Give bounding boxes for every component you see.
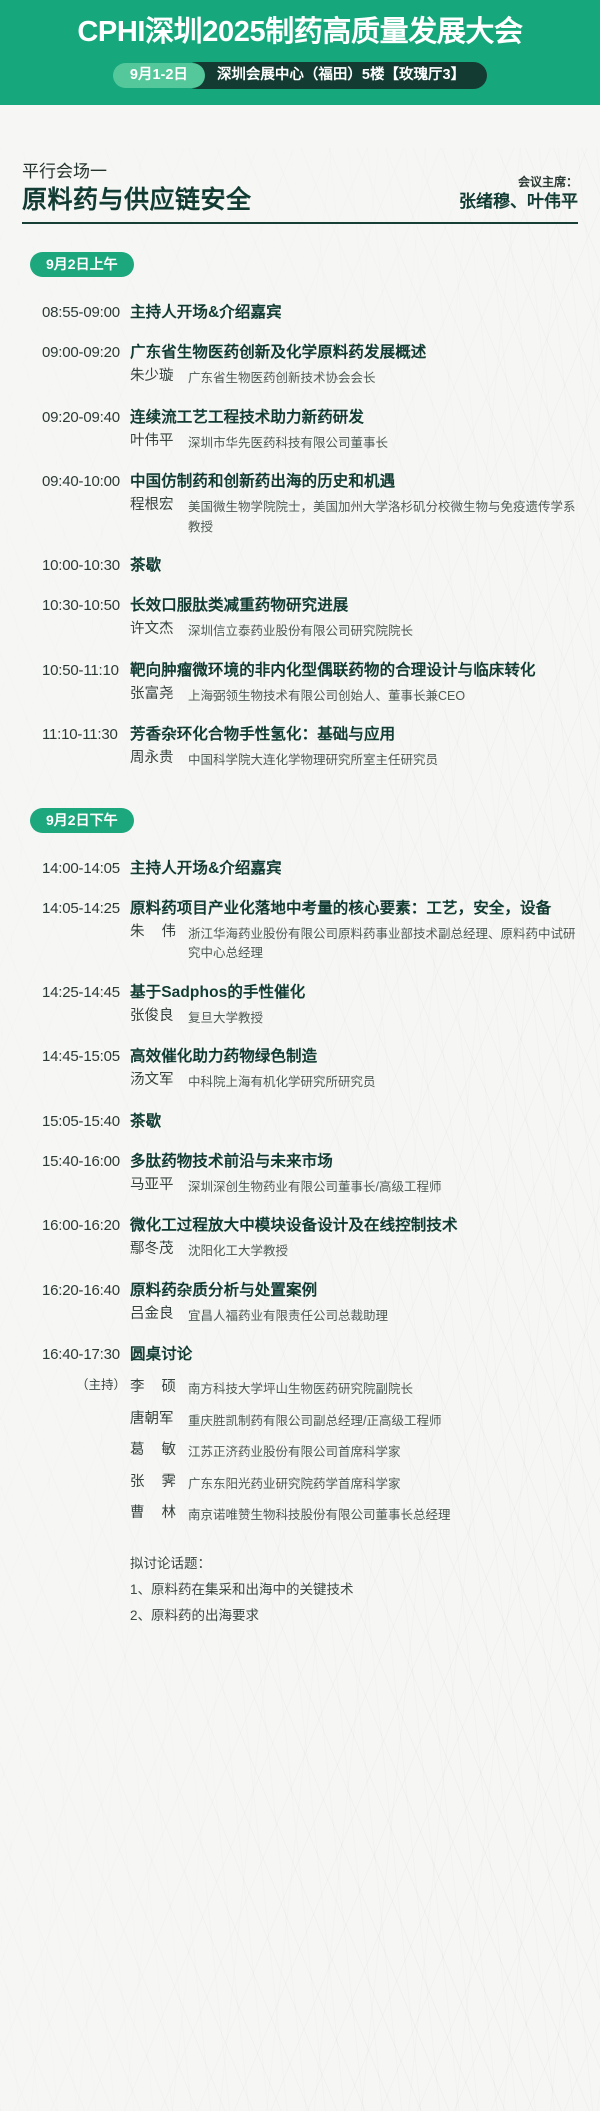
agenda-title: 茶歇 [130,1111,578,1133]
agenda-time: 09:40-10:00 [22,471,130,493]
speaker-affiliation: 上海弼领生物技术有限公司创始人、董事长兼CEO [188,684,578,707]
agenda-title: 基于Sadphos的手性催化 [130,982,578,1004]
speaker: 吕金良 宜昌人福药业有限责任公司总裁助理 [130,1304,578,1327]
agenda-title: 多肽药物技术前沿与未来市场 [130,1151,578,1173]
speaker: 张俊良 复旦大学教授 [130,1006,578,1029]
panelist-name: 葛敏 [130,1440,188,1462]
panelist-affiliation: 南京诺唯赞生物科技股份有限公司董事长总经理 [188,1503,578,1526]
speaker: 许文杰 深圳信立泰药业股份有限公司研究院院长 [130,619,578,642]
agenda-row: 08:55-09:00 主持人开场&介绍嘉宾 [22,293,578,324]
agenda-row: 14:00-14:05 主持人开场&介绍嘉宾 [22,849,578,880]
agenda-body: 微化工过程放大中模块设备设计及在线控制技术 鄢冬茂 沈阳化工大学教授 [130,1215,578,1262]
agenda-row: 09:40-10:00 中国仿制药和创新药出海的历史和机遇 程根宏 美国微生物学… [22,462,578,537]
agenda-time: 08:55-09:00 [22,302,130,324]
speaker: 汤文军 中科院上海有机化学研究所研究员 [130,1070,578,1093]
panelist-name: 李硕 [130,1377,188,1399]
speaker-affiliation: 沈阳化工大学教授 [188,1239,578,1262]
agenda-title: 高效催化助力药物绿色制造 [130,1046,578,1068]
speaker-name: 张富尧 [130,684,188,706]
agenda-time: 16:00-16:20 [22,1215,130,1237]
agenda-row: 09:20-09:40 连续流工艺工程技术助力新药研发 叶伟平 深圳市华先医药科… [22,398,578,454]
event-date-badge: 9月1-2日 [113,63,205,89]
banner-subrow: 9月1-2日 深圳会展中心（福田）5楼【玫瑰厅3】 [0,62,600,90]
agenda-list-afternoon: 14:00-14:05 主持人开场&介绍嘉宾 14:05-14:25 原料药项目… [22,849,578,1629]
agenda-body: 中国仿制药和创新药出海的历史和机遇 程根宏 美国微生物学院院士，美国加州大学洛杉… [130,471,578,537]
speaker: 张富尧 上海弼领生物技术有限公司创始人、董事长兼CEO [130,684,578,707]
agenda-title: 靶向肿瘤微环境的非内化型偶联药物的合理设计与临床转化 [130,660,578,682]
chair-label: 会议主席： [459,173,578,191]
speaker-affiliation: 深圳信立泰药业股份有限公司研究院院长 [188,619,578,642]
event-venue-badge: 深圳会展中心（福田）5楼【玫瑰厅3】 [183,62,487,90]
agenda-time: 14:05-14:25 [22,898,130,920]
speaker-affiliation: 美国微生物学院院士，美国加州大学洛杉矶分校微生物与免疫遗传学系教授 [188,495,578,537]
panelist-row: 张霁 广东东阳光药业研究院药学首席科学家 [22,1470,578,1495]
agenda-list-morning: 08:55-09:00 主持人开场&介绍嘉宾 09:00-09:20 广东省生物… [22,293,578,771]
session-header: 平行会场一 原料药与供应链安全 会议主席： 张绪穆、叶伟平 [22,105,578,215]
agenda-body: 茶歇 [130,555,578,577]
agenda-title: 茶歇 [130,555,578,577]
panelist: 李硕 南方科技大学坪山生物医药研究院副院长 [130,1377,578,1400]
agenda-body: 广东省生物医药创新及化学原料药发展概述 朱少璇 广东省生物医药创新技术协会会长 [130,342,578,389]
panelist-name: 唐朝军 [130,1409,188,1431]
agenda-time: 14:25-14:45 [22,982,130,1004]
agenda-time: 14:45-15:05 [22,1046,130,1068]
panelist-row: 葛敏 江苏正济药业股份有限公司首席科学家 [22,1438,578,1463]
agenda-time: 15:05-15:40 [22,1111,130,1133]
agenda-row: 10:50-11:10 靶向肿瘤微环境的非内化型偶联药物的合理设计与临床转化 张… [22,651,578,707]
agenda-time: 09:20-09:40 [22,407,130,429]
agenda-time: 09:00-09:20 [22,342,130,364]
panelist-name: 张霁 [130,1472,188,1494]
panelist-affiliation: 江苏正济药业股份有限公司首席科学家 [188,1440,578,1463]
panelist-row: 曹林 南京诺唯赞生物科技股份有限公司董事长总经理 [22,1501,578,1526]
session-title: 原料药与供应链安全 [22,185,252,215]
agenda-body: 芳香杂环化合物手性氢化：基础与应用 周永贵 中国科学院大连化学物理研究所室主任研… [130,724,578,771]
agenda-body: 长效口服肽类减重药物研究进展 许文杰 深圳信立泰药业股份有限公司研究院院长 [130,595,578,642]
agenda-row: 15:40-16:00 多肽药物技术前沿与未来市场 马亚平 深圳深创生物药业有限… [22,1142,578,1198]
agenda-row: 14:45-15:05 高效催化助力药物绿色制造 汤文军 中科院上海有机化学研究… [22,1037,578,1093]
agenda-time: 11:10-11:30 [22,724,130,746]
agenda-title: 原料药杂质分析与处置案例 [130,1280,578,1302]
agenda-body: 基于Sadphos的手性催化 张俊良 复旦大学教授 [130,982,578,1029]
speaker-affiliation: 宜昌人福药业有限责任公司总裁助理 [188,1304,578,1327]
panelist: 唐朝军 重庆胜凯制药有限公司副总经理/正高级工程师 [130,1409,578,1432]
agenda-body: 原料药杂质分析与处置案例 吕金良 宜昌人福药业有限责任公司总裁助理 [130,1280,578,1327]
speaker-affiliation: 中国科学院大连化学物理研究所室主任研究员 [188,748,578,771]
panelist: 葛敏 江苏正济药业股份有限公司首席科学家 [130,1440,578,1463]
speaker-affiliation: 中科院上海有机化学研究所研究员 [188,1070,578,1093]
agenda-page: CPHI深圳2025制药高质量发展大会 9月1-2日 深圳会展中心（福田）5楼【… [0,0,600,2111]
speaker-name: 朱伟 [130,922,188,944]
agenda-title: 主持人开场&介绍嘉宾 [130,858,578,880]
agenda-body: 茶歇 [130,1111,578,1133]
session-kicker: 平行会场一 [22,161,252,184]
panelist-row: （主持） 李硕 南方科技大学坪山生物医药研究院副院长 [22,1375,578,1400]
agenda-body: 原料药项目产业化落地中考量的核心要素：工艺，安全，设备 朱伟 浙江华海药业股份有… [130,898,578,964]
speaker: 马亚平 深圳深创生物药业有限公司董事长/高级工程师 [130,1175,578,1198]
speaker-name: 周永贵 [130,748,188,770]
agenda-row: 15:05-15:40 茶歇 [22,1102,578,1133]
panelist: 曹林 南京诺唯赞生物科技股份有限公司董事长总经理 [130,1503,578,1526]
page-content: 平行会场一 原料药与供应链安全 会议主席： 张绪穆、叶伟平 9月2日上午 08:… [0,105,600,1628]
speaker-affiliation: 深圳深创生物药业有限公司董事长/高级工程师 [188,1175,578,1198]
agenda-time: 16:20-16:40 [22,1280,130,1302]
topic-item: 1、原料药在集采和出海中的关键技术 [130,1577,578,1603]
speaker-name: 吕金良 [130,1304,188,1326]
agenda-title: 广东省生物医药创新及化学原料药发展概述 [130,342,578,364]
panelist-affiliation: 广东东阳光药业研究院药学首席科学家 [188,1472,578,1495]
agenda-row: 10:00-10:30 茶歇 [22,546,578,577]
speaker-name: 张俊良 [130,1006,188,1028]
speaker-affiliation: 深圳市华先医药科技有限公司董事长 [188,431,578,454]
agenda-time: 10:30-10:50 [22,595,130,617]
speaker: 朱少璇 广东省生物医药创新技术协会会长 [130,366,578,389]
topics-block-row: 拟讨论话题： 1、原料药在集采和出海中的关键技术 2、原料药的出海要求 [22,1533,578,1629]
agenda-time: 10:00-10:30 [22,555,130,577]
speaker: 朱伟 浙江华海药业股份有限公司原料药事业部技术副总经理、原料药中试研究中心总经理 [130,922,578,964]
speaker-affiliation: 广东省生物医药创新技术协会会长 [188,366,578,389]
agenda-time: 15:40-16:00 [22,1151,130,1173]
speaker-name: 叶伟平 [130,431,188,453]
agenda-body: 主持人开场&介绍嘉宾 [130,858,578,880]
agenda-title: 微化工过程放大中模块设备设计及在线控制技术 [130,1215,578,1237]
agenda-title: 芳香杂环化合物手性氢化：基础与应用 [130,724,578,746]
speaker-name: 鄢冬茂 [130,1239,188,1261]
speaker: 叶伟平 深圳市华先医药科技有限公司董事长 [130,431,578,454]
agenda-row: 16:20-16:40 原料药杂质分析与处置案例 吕金良 宜昌人福药业有限责任公… [22,1271,578,1327]
panelist-affiliation: 南方科技大学坪山生物医药研究院副院长 [188,1377,578,1400]
event-title: CPHI深圳2025制药高质量发展大会 [0,17,600,49]
agenda-row: 10:30-10:50 长效口服肽类减重药物研究进展 许文杰 深圳信立泰药业股份… [22,586,578,642]
agenda-row: 16:00-16:20 微化工过程放大中模块设备设计及在线控制技术 鄢冬茂 沈阳… [22,1206,578,1262]
agenda-body: 靶向肿瘤微环境的非内化型偶联药物的合理设计与临床转化 张富尧 上海弼领生物技术有… [130,660,578,707]
day-badge-afternoon: 9月2日下午 [30,808,134,833]
panelist-name: 曹林 [130,1503,188,1525]
agenda-body: 圆桌讨论 [130,1344,578,1366]
day-badge-morning: 9月2日上午 [30,252,134,277]
session-divider [22,222,578,224]
agenda-row: 09:00-09:20 广东省生物医药创新及化学原料药发展概述 朱少璇 广东省生… [22,333,578,389]
agenda-body: 高效催化助力药物绿色制造 汤文军 中科院上海有机化学研究所研究员 [130,1046,578,1093]
chair-names: 张绪穆、叶伟平 [459,191,578,213]
agenda-row: 14:05-14:25 原料药项目产业化落地中考量的核心要素：工艺，安全，设备 … [22,889,578,964]
panelist: 张霁 广东东阳光药业研究院药学首席科学家 [130,1472,578,1495]
agenda-row: 11:10-11:30 芳香杂环化合物手性氢化：基础与应用 周永贵 中国科学院大… [22,715,578,771]
speaker-name: 马亚平 [130,1175,188,1197]
agenda-body: 连续流工艺工程技术助力新药研发 叶伟平 深圳市华先医药科技有限公司董事长 [130,407,578,454]
topics-heading: 拟讨论话题： [130,1551,578,1577]
agenda-row: 14:25-14:45 基于Sadphos的手性催化 张俊良 复旦大学教授 [22,973,578,1029]
panelist-affiliation: 重庆胜凯制药有限公司副总经理/正高级工程师 [188,1409,578,1432]
agenda-row-roundtable: 16:40-17:30 圆桌讨论 [22,1335,578,1366]
session-chairs: 会议主席： 张绪穆、叶伟平 [459,173,578,215]
speaker-affiliation: 复旦大学教授 [188,1006,578,1029]
topic-item: 2、原料药的出海要求 [130,1603,578,1629]
agenda-title: 主持人开场&介绍嘉宾 [130,302,578,324]
agenda-time: 10:50-11:10 [22,660,130,682]
agenda-title: 连续流工艺工程技术助力新药研发 [130,407,578,429]
speaker-name: 程根宏 [130,495,188,517]
agenda-title: 长效口服肽类减重药物研究进展 [130,595,578,617]
event-banner: CPHI深圳2025制药高质量发展大会 9月1-2日 深圳会展中心（福田）5楼【… [0,0,600,105]
agenda-title: 圆桌讨论 [130,1344,578,1366]
speaker: 周永贵 中国科学院大连化学物理研究所室主任研究员 [130,748,578,771]
session-heading-group: 平行会场一 原料药与供应链安全 [22,161,252,215]
speaker-name: 汤文军 [130,1070,188,1092]
agenda-title: 原料药项目产业化落地中考量的核心要素：工艺，安全，设备 [130,898,578,920]
panelist-row: 唐朝军 重庆胜凯制药有限公司副总经理/正高级工程师 [22,1407,578,1432]
speaker: 程根宏 美国微生物学院院士，美国加州大学洛杉矶分校微生物与免疫遗传学系教授 [130,495,578,537]
agenda-body: 主持人开场&介绍嘉宾 [130,302,578,324]
agenda-time: 14:00-14:05 [22,858,130,880]
speaker: 鄢冬茂 沈阳化工大学教授 [130,1239,578,1262]
agenda-time: 16:40-17:30 [22,1344,130,1366]
speaker-name: 许文杰 [130,619,188,641]
discussion-topics: 拟讨论话题： 1、原料药在集采和出海中的关键技术 2、原料药的出海要求 [130,1551,578,1629]
agenda-body: 多肽药物技术前沿与未来市场 马亚平 深圳深创生物药业有限公司董事长/高级工程师 [130,1151,578,1198]
speaker-affiliation: 浙江华海药业股份有限公司原料药事业部技术副总经理、原料药中试研究中心总经理 [188,922,578,964]
moderator-tag: （主持） [22,1375,130,1395]
speaker-name: 朱少璇 [130,366,188,388]
agenda-title: 中国仿制药和创新药出海的历史和机遇 [130,471,578,493]
